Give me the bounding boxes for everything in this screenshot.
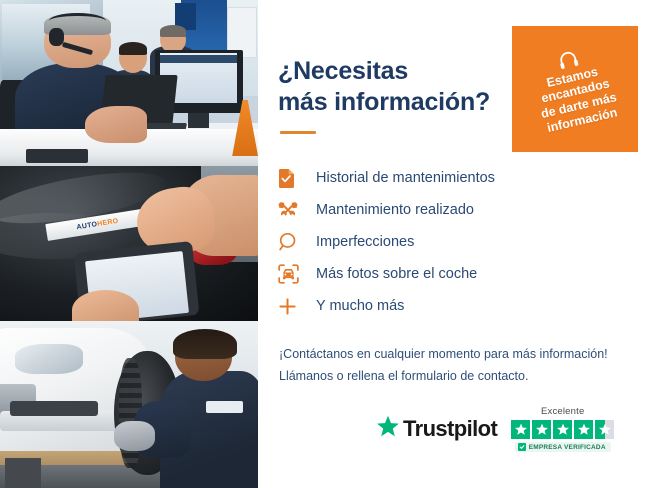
- call-center-agents-photo: [0, 0, 258, 166]
- feature-item-imperfections: Imperfecciones: [278, 226, 620, 258]
- photo1-person-1-arm: [85, 106, 147, 143]
- verified-company-label: EMPRESA VERIFICADA: [529, 444, 606, 451]
- trustpilot-score-block: Excelente: [511, 406, 614, 452]
- trustpilot-rating-label: Excelente: [541, 406, 585, 417]
- feature-item-car-photos: Más fotos sobre el coche: [278, 258, 620, 290]
- photo1-monitor-toolbar: [160, 55, 237, 63]
- trustpilot-stars: [511, 420, 614, 439]
- trustpilot-star-2: [532, 420, 551, 439]
- photo3-mechanic-glove: [114, 421, 155, 451]
- photo1-monitor-stand: [188, 113, 209, 128]
- feature-label: Mantenimiento realizado: [316, 203, 474, 218]
- photo-column: AUTOHERO: [0, 0, 258, 488]
- verified-company-badge: EMPRESA VERIFICADA: [515, 442, 611, 452]
- feature-item-maintenance-history: Historial de mantenimientos: [278, 162, 620, 194]
- photo2-ruler-brand: AUTOHERO: [77, 217, 120, 231]
- contact-paragraph: ¡Contáctanos en cualquier momento para m…: [279, 344, 620, 387]
- trustpilot-star-4: [574, 420, 593, 439]
- headline-line-1: ¿Necesitas: [278, 57, 408, 85]
- trustpilot-wordmark: Trustpilot: [403, 416, 497, 442]
- trustpilot-star-3: [553, 420, 572, 439]
- trustpilot-logo: Trustpilot: [376, 415, 497, 443]
- car-inspection-ruler-photo: AUTOHERO: [0, 166, 258, 321]
- trustpilot-rating[interactable]: Trustpilot Excelente: [376, 406, 614, 452]
- photo3-mechanic-hair: [173, 329, 238, 359]
- feature-list: Historial de mantenimientos M: [278, 162, 620, 322]
- maintenance-history-icon: [278, 166, 304, 190]
- badge-text: Estamos encantados de darte más informac…: [520, 58, 635, 139]
- headline-line-2: más información?: [278, 88, 490, 116]
- feature-label: Imperfecciones: [316, 235, 414, 250]
- title-underline-rule: [280, 131, 316, 134]
- contact-info-banner: AUTOHERO: [0, 0, 650, 488]
- page-title: ¿Necesitas más información?: [278, 56, 513, 117]
- content-panel: ¿Necesitas más información? Estamos enca…: [258, 0, 650, 488]
- support-badge: Estamos encantados de darte más informac…: [512, 26, 638, 152]
- magnifier-icon: [278, 230, 304, 254]
- feature-label: Y mucho más: [316, 299, 404, 314]
- tools-icon: [278, 198, 304, 222]
- car-photo-icon: [278, 262, 304, 286]
- feature-label: Más fotos sobre el coche: [316, 267, 477, 282]
- photo3-headlight: [15, 344, 82, 374]
- plus-icon: [278, 294, 304, 318]
- paragraph-line-2: Llámanos o rellena el formulario de cont…: [279, 369, 528, 383]
- photo1-person-2-hair: [119, 42, 147, 55]
- headset-icon: [556, 48, 580, 70]
- photo3-uniform-logo: [206, 401, 242, 413]
- feature-item-much-more: Y mucho más: [278, 290, 620, 322]
- photo1-tablet: [26, 149, 88, 162]
- verified-check-icon: [518, 443, 526, 451]
- trustpilot-star-5-half: [595, 420, 614, 439]
- photo3-lower-grille: [10, 401, 98, 416]
- paragraph-line-1: ¡Contáctanos en cualquier momento para m…: [279, 347, 608, 361]
- feature-label: Historial de mantenimientos: [316, 171, 495, 186]
- photo1-person-3-hair: [160, 25, 186, 37]
- photo1-headset-band: [49, 13, 106, 29]
- mechanic-wheel-photo: [0, 321, 258, 488]
- feature-item-maintenance-done: Mantenimiento realizado: [278, 194, 620, 226]
- photo3-car-lift: [5, 458, 41, 488]
- trustpilot-star-1: [511, 420, 530, 439]
- trustpilot-star-icon: [376, 415, 400, 443]
